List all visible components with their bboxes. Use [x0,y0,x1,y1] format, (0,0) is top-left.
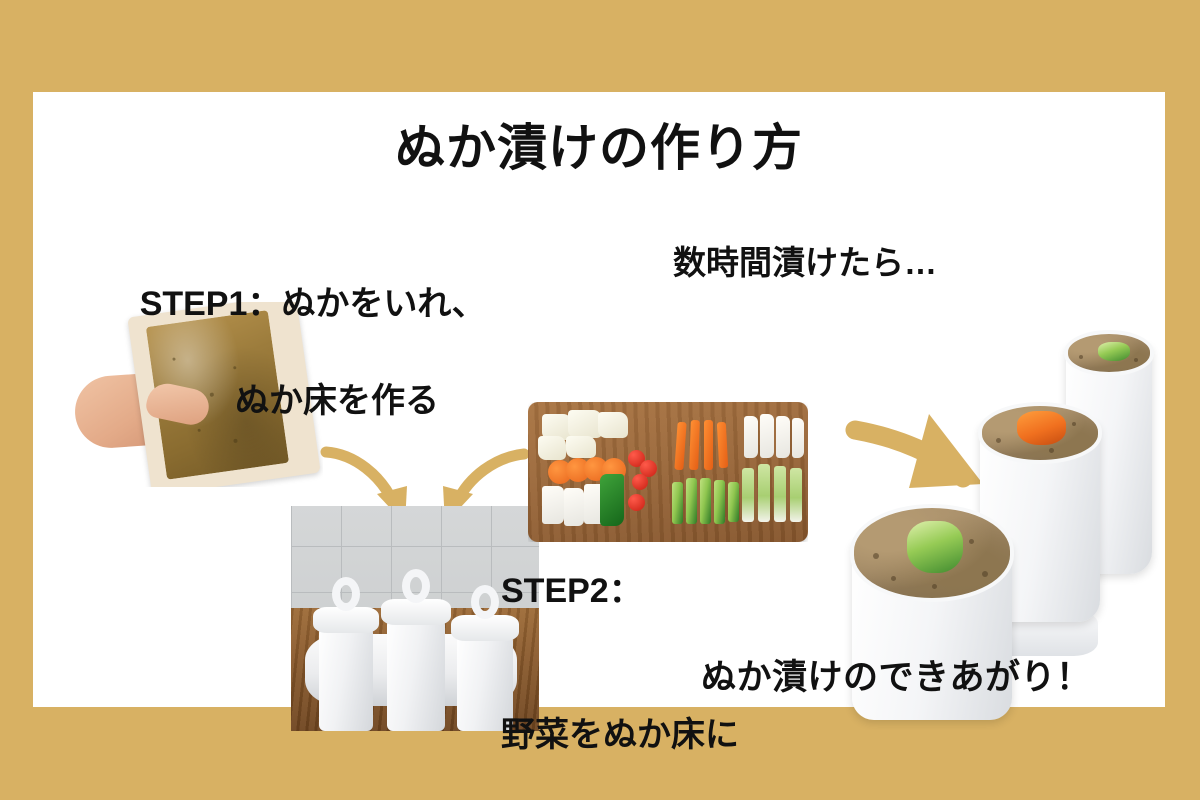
bran-surface-3 [1064,330,1154,376]
cucumber-piece-1 [907,521,963,573]
step2-line2: 野菜をぬか床に [501,711,739,759]
cucumber-piece-3 [1098,342,1131,361]
bran-surface-1 [850,504,1014,602]
hours-caption: 数時間漬けたら… [673,240,937,287]
step2-line1: STEP2： [501,567,739,615]
container-2 [387,615,445,731]
step2-caption: STEP2： 野菜をぬか床に 入れる [501,470,739,800]
done-caption: ぬか漬けのできあがり！ [701,653,1092,703]
carrot-piece-2 [1017,411,1066,444]
container-1 [319,623,373,731]
step1-line1: STEP1：ぬかをいれ、 [140,285,486,323]
step1-line2: ぬか床を作る [83,377,486,425]
page-title: ぬか漬けの作り方 [33,108,1165,180]
content-card: ぬか漬けの作り方 STEP1：ぬかをいれ、 ぬか床を作る [33,92,1165,707]
bran-surface-2 [978,402,1102,464]
infographic-poster: ぬか漬けの作り方 STEP1：ぬかをいれ、 ぬか床を作る [0,0,1200,800]
